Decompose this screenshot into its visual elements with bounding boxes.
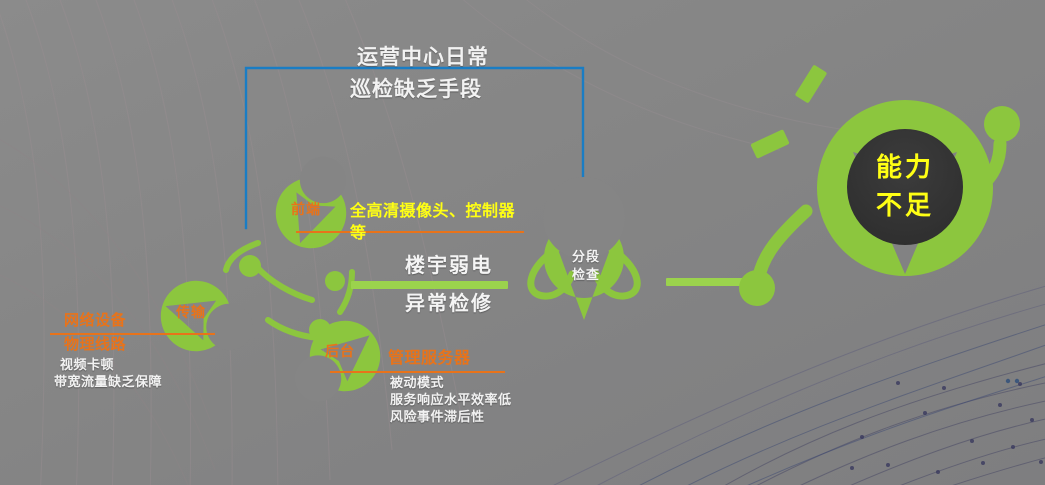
segment-to-capability-connector (666, 278, 749, 286)
backend-issue-1: 服务响应水平效率低 (390, 393, 512, 409)
node-label-frontend: 前端 (291, 202, 321, 220)
pin-transmission[interactable] (152, 272, 263, 368)
transmission-tag-line-2: 物理线路 (64, 335, 126, 354)
pin-label-segment-line-2: 检查 (566, 268, 606, 284)
node-label-transmission: 传输 (176, 305, 206, 323)
pin-backend[interactable] (278, 306, 395, 420)
transmission-issue-1: 带宽流量缺乏保障 (54, 375, 162, 391)
backend-issue-0: 被动模式 (390, 376, 444, 392)
pin-segment-check[interactable] (531, 177, 637, 320)
frontend-tag-line-2: 等 (350, 223, 367, 243)
pin-label-capability-line-1: 能力 (855, 152, 955, 185)
node-label-backend: 后台 (325, 344, 355, 362)
center-line-2: 异常检修 (405, 291, 493, 316)
capability-sparks (750, 64, 827, 158)
capability-dark-disc (847, 129, 963, 245)
frontend-underline (296, 231, 524, 233)
transmission-tag-line-1: 网络设备 (64, 311, 126, 330)
frontend-tag-line-1: 全高清摄像头、控制器 (350, 201, 515, 221)
center-divider-bar (351, 281, 508, 289)
center-line-1: 楼宇弱电 (405, 253, 493, 278)
capability-arm-ball-right (984, 106, 1020, 142)
header-line-1: 运营中心日常 (357, 44, 489, 70)
infographic-canvas: 运营中心日常 巡检缺乏手段 前端 传输 后台 全高清摄像头、控制器 等 网络设备… (0, 0, 1045, 485)
backend-underline (330, 371, 505, 373)
capability-arm-ball-left (739, 270, 775, 306)
pin-capability[interactable] (739, 64, 1020, 306)
diagram-artwork (0, 0, 1045, 485)
header-line-2: 巡检缺乏手段 (350, 76, 482, 102)
transmission-issue-0: 视频卡顿 (60, 358, 114, 374)
pin-label-capability-line-2: 不足 (855, 190, 955, 223)
backend-issue-2: 风险事件滞后性 (390, 410, 485, 426)
pin-label-segment-line-1: 分段 (566, 250, 606, 266)
backend-tag: 管理服务器 (388, 348, 471, 368)
